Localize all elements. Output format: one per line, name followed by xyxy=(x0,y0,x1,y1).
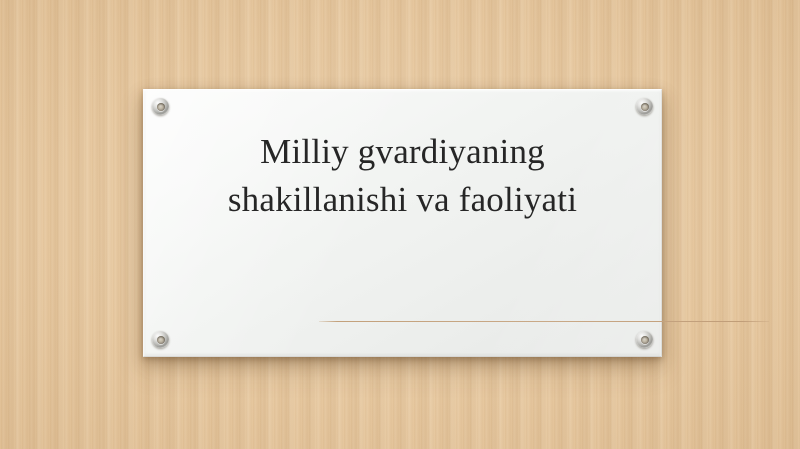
screw-bottom-right-icon xyxy=(636,331,653,348)
screw-bottom-left-icon xyxy=(152,331,169,348)
slide-title-line-1: Milliy gvardiyaning xyxy=(176,128,629,176)
title-divider-rule xyxy=(319,321,769,322)
slide-title-line-2: shakillanishi va faoliyati xyxy=(176,176,629,224)
screw-top-left-icon xyxy=(152,98,169,115)
presentation-slide: Milliy gvardiyaning shakillanishi va fao… xyxy=(0,0,800,449)
screw-top-right-icon xyxy=(636,98,653,115)
slide-title: Milliy gvardiyaning shakillanishi va fao… xyxy=(176,128,629,224)
title-panel: Milliy gvardiyaning shakillanishi va fao… xyxy=(143,89,662,357)
